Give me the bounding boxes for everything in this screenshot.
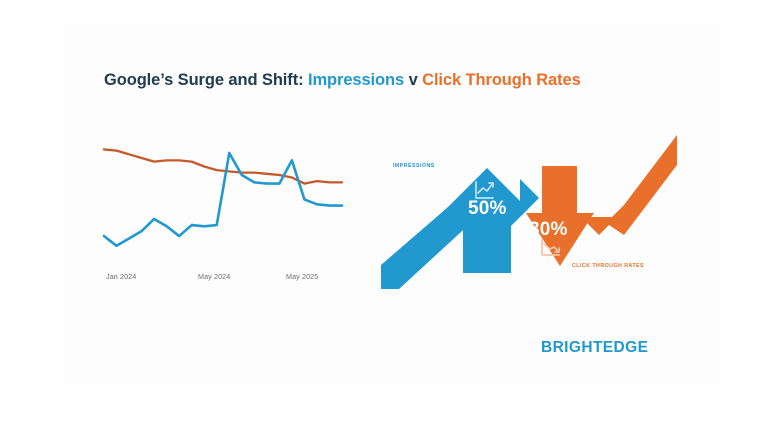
arrow-graphic [370,125,688,305]
line-chart-x-axis: Jan 2024 May 2024 May 2025 [100,272,352,286]
line-chart-svg [100,132,350,262]
title-segment-connector: v [409,71,418,89]
arrow-label-click-through-rates: CLICK THROUGH RATES [572,263,644,269]
x-tick-label-2: May 2025 [286,272,318,281]
x-tick-label-0: Jan 2024 [106,272,136,281]
title-segment-dark: Google’s Surge and Shift: [104,71,303,89]
impressions-percent-value: 50% [468,198,507,220]
title-segment-ctr: Click Through Rates [422,71,581,89]
line-series-click-through-rates [104,149,342,183]
title-segment-impressions: Impressions [308,71,404,89]
line-series-impressions [104,153,342,246]
ctr-down-arrow [526,166,594,266]
impressions-up-arrow [446,168,528,273]
brightedge-logo: BRIGHTEDGE [541,339,648,357]
ctr-percent-value: 30% [529,219,568,241]
ctr-shaft-diagonal [606,135,677,235]
arrow-graphic-svg [370,125,688,305]
x-tick-label-1: May 2024 [198,272,230,281]
arrow-label-impressions: IMPRESSIONS [393,163,435,169]
impressions-shaft-right [520,179,539,215]
line-chart [100,132,350,262]
infographic-canvas: Google’s Surge and Shift: Impressions v … [0,0,768,437]
page-title: Google’s Surge and Shift: Impressions v … [104,72,581,89]
